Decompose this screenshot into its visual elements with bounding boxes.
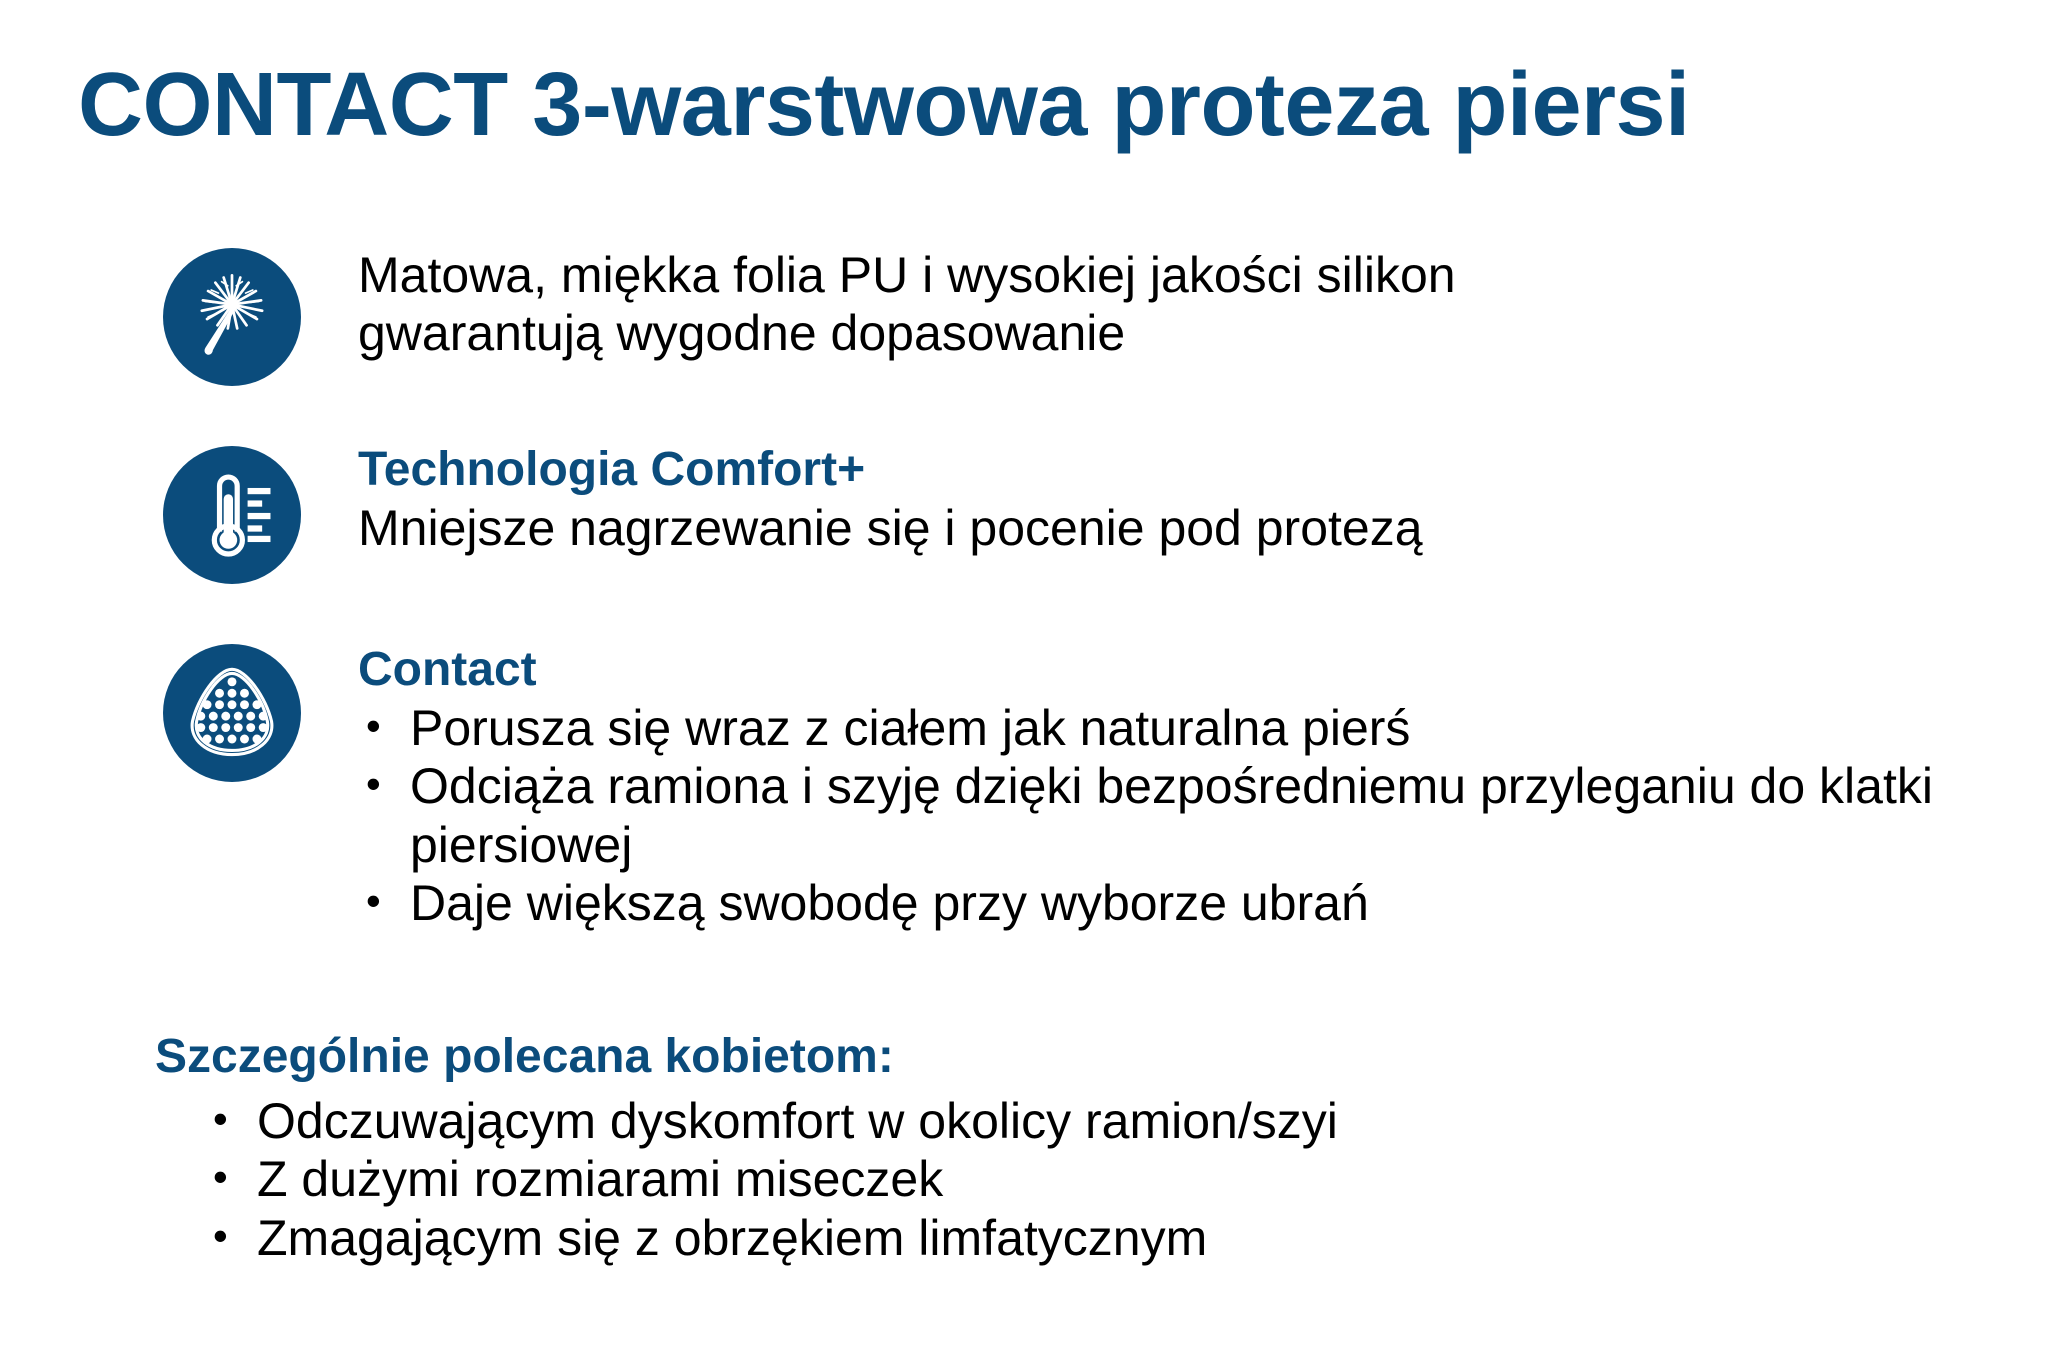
feature-text-block: Contact Porusza się wraz z ciałem jak na…	[358, 642, 2028, 933]
perforated-prosthesis-icon	[163, 644, 301, 782]
contact-bullet-list: Porusza się wraz z ciałem jak naturalna …	[358, 699, 2028, 933]
recommendation-heading: Szczególnie polecana kobietom:	[155, 1028, 1955, 1086]
feature-row: Technologia Comfort+ Mniejsze nagrzewani…	[0, 442, 2048, 642]
feature-line: Matowa, miękka folia PU i wysokiej jakoś…	[358, 246, 2028, 304]
feature-text-block: Matowa, miękka folia PU i wysokiej jakoś…	[358, 246, 2028, 362]
feature-heading: Technologia Comfort+	[358, 442, 2028, 499]
list-item: Porusza się wraz z ciałem jak naturalna …	[358, 699, 2028, 758]
list-item: Odczuwającym dyskomfort w okolicy ramion…	[205, 1092, 1955, 1151]
slide-canvas: CONTACT 3-warstwowa proteza piersi	[0, 0, 2048, 1365]
feature-line: Mniejsze nagrzewanie się i pocenie pod p…	[358, 499, 2028, 557]
list-item: Zmagającym się z obrzękiem limfatycznym	[205, 1209, 1955, 1268]
feature-heading: Contact	[358, 642, 2028, 699]
feature-list: Matowa, miękka folia PU i wysokiej jakoś…	[0, 246, 2048, 942]
list-item: Z dużymi rozmiarami miseczek	[205, 1150, 1955, 1209]
recommendation-block: Szczególnie polecana kobietom: Odczuwają…	[155, 1028, 1955, 1267]
list-item: Odciąża ramiona i szyję dzięki bezpośred…	[358, 757, 2028, 874]
dandelion-seed-icon	[163, 248, 301, 386]
page-title: CONTACT 3-warstwowa proteza piersi	[78, 58, 1690, 153]
feature-text-block: Technologia Comfort+ Mniejsze nagrzewani…	[358, 442, 2028, 557]
list-item: Daje większą swobodę przy wyborze ubrań	[358, 874, 2028, 933]
feature-row: Contact Porusza się wraz z ciałem jak na…	[0, 642, 2048, 942]
feature-line: gwarantują wygodne dopasowanie	[358, 304, 2028, 362]
thermometer-icon	[163, 446, 301, 584]
feature-row: Matowa, miękka folia PU i wysokiej jakoś…	[0, 246, 2048, 442]
recommendation-bullet-list: Odczuwającym dyskomfort w okolicy ramion…	[205, 1092, 1955, 1268]
